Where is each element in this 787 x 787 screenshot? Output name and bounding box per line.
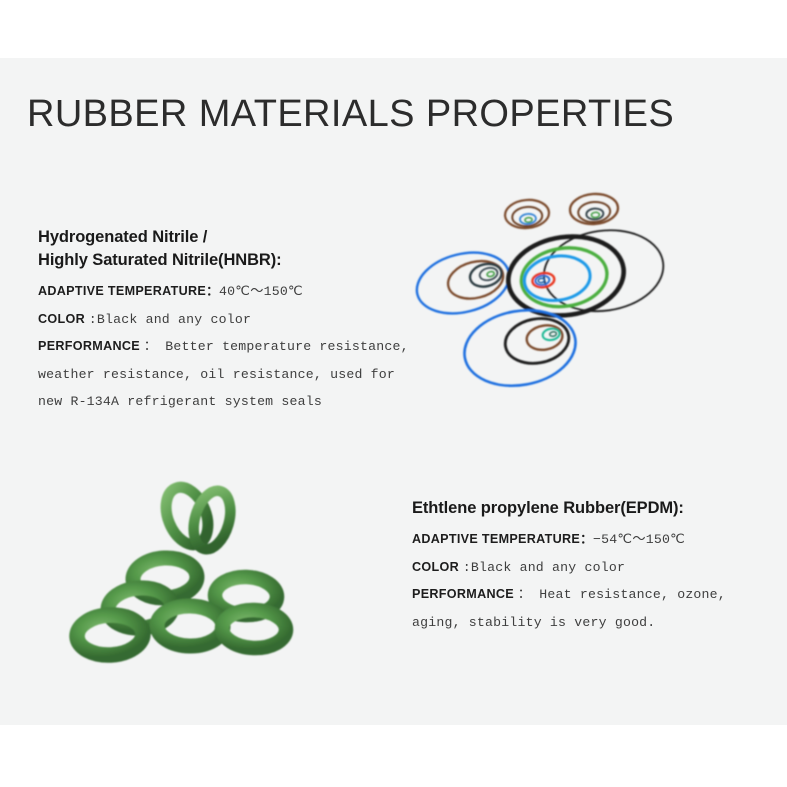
hnbr-temperature-label: ADAPTIVE TEMPERATURE： bbox=[38, 284, 219, 298]
hnbr-color-value: :Black and any color bbox=[89, 312, 251, 327]
hnbr-performance-line-2: weather resistance, oil resistance, used… bbox=[38, 361, 409, 389]
hnbr-spec-color: COLOR :Black and any color bbox=[38, 306, 409, 334]
hnbr-performance-label: PERFORMANCE bbox=[38, 339, 144, 353]
hnbr-heading-line-1: Hydrogenated Nitrile / bbox=[38, 226, 409, 249]
hnbr-color-label: COLOR bbox=[38, 312, 89, 326]
page-title: RUBBER MATERIALS PROPERTIES bbox=[27, 93, 674, 136]
epdm-spec-temperature: ADAPTIVE TEMPERATURE：−54℃～150℃ bbox=[412, 526, 726, 554]
epdm-performance-label: PERFORMANCE bbox=[412, 587, 518, 601]
material-block-epdm: Ethtlene propylene Rubber(EPDM): ADAPTIV… bbox=[412, 497, 726, 636]
hnbr-performance-line-3: new R-134A refrigerant system seals bbox=[38, 388, 409, 416]
epdm-spec-performance: PERFORMANCE ： Heat resistance, ozone, bbox=[412, 581, 726, 609]
epdm-color-label: COLOR bbox=[412, 560, 463, 574]
epdm-performance-line-2: aging, stability is very good. bbox=[412, 609, 726, 637]
epdm-color-value: :Black and any color bbox=[463, 560, 625, 575]
hnbr-performance-value: ： Better temperature resistance, bbox=[144, 339, 409, 354]
epdm-spec-color: COLOR :Black and any color bbox=[412, 554, 726, 582]
hnbr-spec-performance: PERFORMANCE ： Better temperature resista… bbox=[38, 333, 409, 361]
nested-oring-rings-photo bbox=[398, 178, 722, 403]
epdm-temperature-label: ADAPTIVE TEMPERATURE： bbox=[412, 532, 593, 546]
green-oring-pile-photo bbox=[68, 468, 322, 670]
hnbr-temperature-value: 40℃～150℃ bbox=[219, 284, 303, 299]
hnbr-spec-temperature: ADAPTIVE TEMPERATURE：40℃～150℃ bbox=[38, 278, 409, 306]
material-block-hnbr: Hydrogenated Nitrile / Highly Saturated … bbox=[38, 226, 409, 416]
epdm-heading-line-1: Ethtlene propylene Rubber(EPDM): bbox=[412, 497, 726, 520]
hnbr-heading-line-2: Highly Saturated Nitrile(HNBR): bbox=[38, 249, 409, 272]
product-spec-banner: RUBBER MATERIALS PROPERTIES bbox=[0, 0, 787, 787]
epdm-performance-value: ： Heat resistance, ozone, bbox=[518, 587, 726, 602]
epdm-temperature-value: −54℃～150℃ bbox=[593, 532, 685, 547]
